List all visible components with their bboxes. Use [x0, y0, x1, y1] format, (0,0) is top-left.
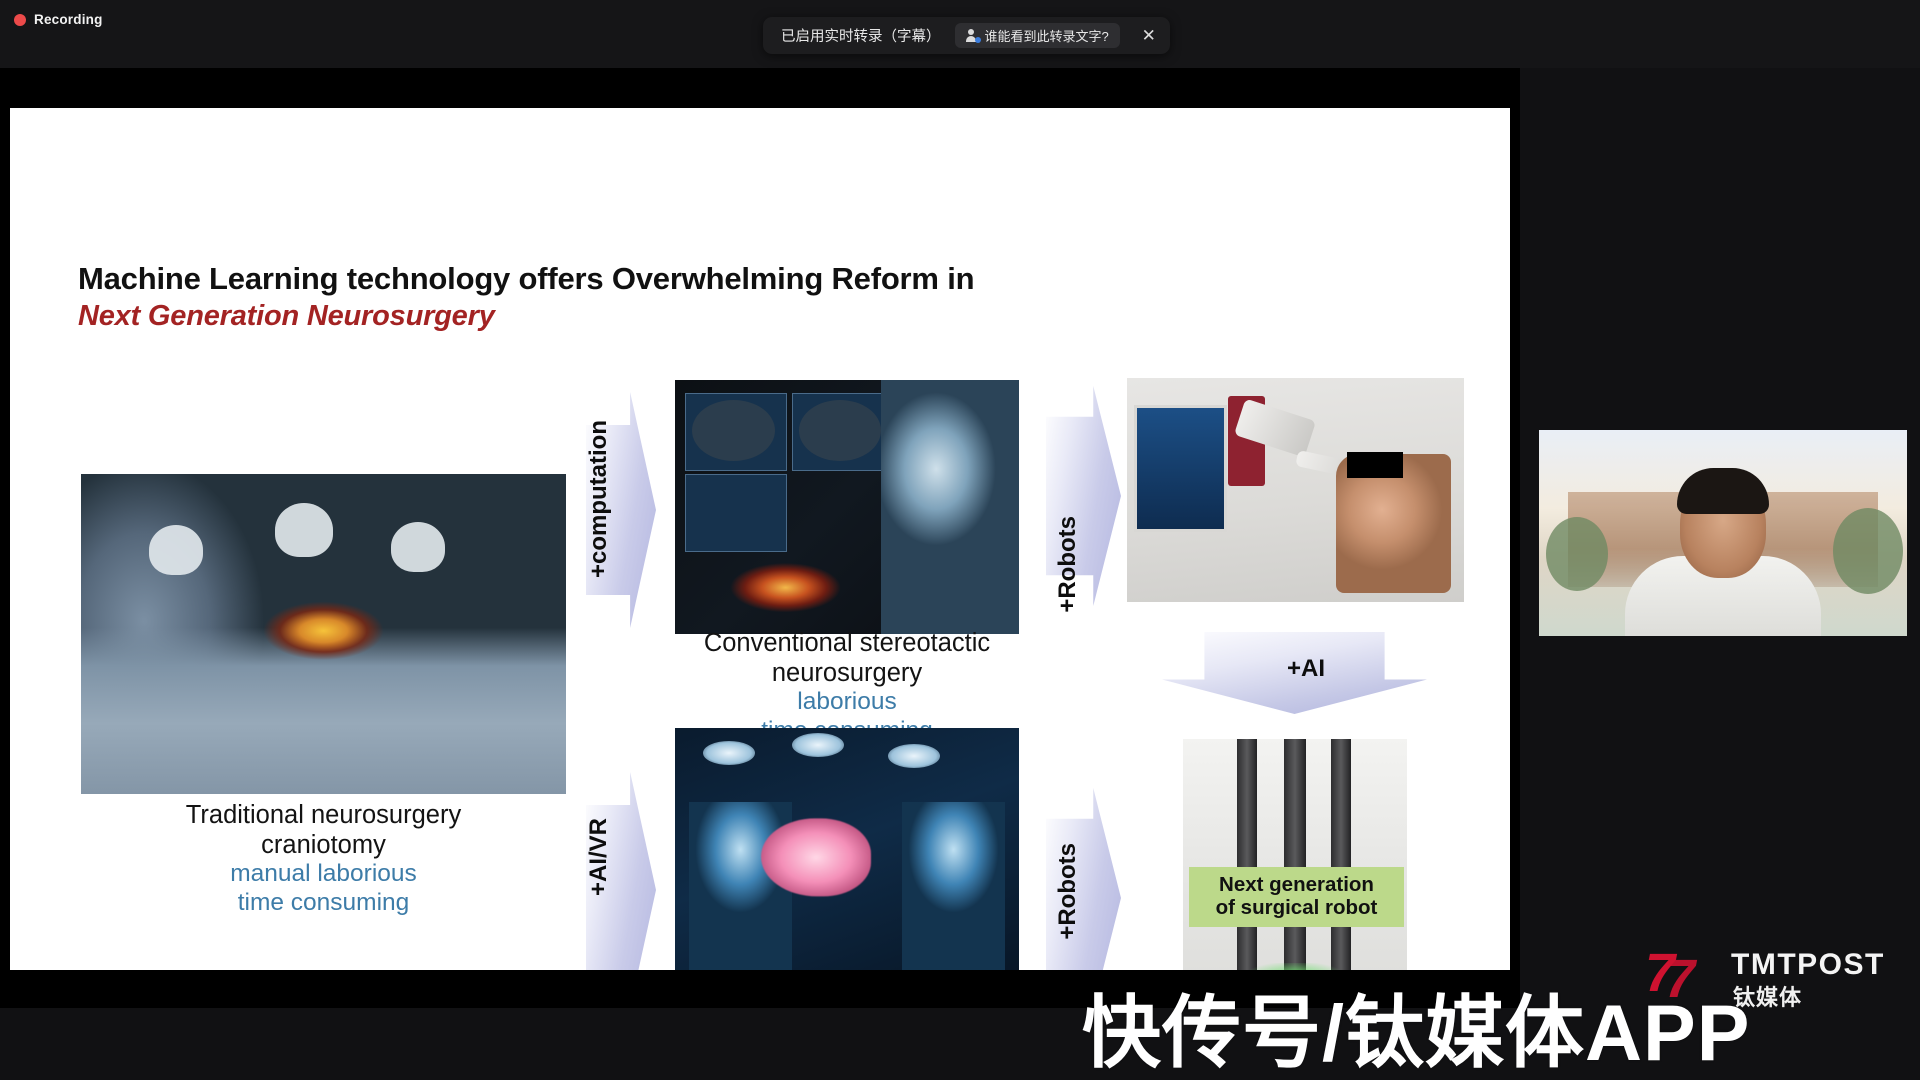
recording-label: Recording [34, 12, 103, 27]
caption-line: craniotomy [81, 830, 566, 860]
traditional-surgery-photo [81, 474, 566, 794]
person-icon [966, 29, 979, 42]
participant-video-tile[interactable] [1539, 430, 1907, 636]
rosa-robot-photo [1127, 378, 1464, 602]
greenbox-line: Next generation [1219, 874, 1374, 897]
caption-line: laborious [656, 688, 1038, 717]
watermark-text: 快传号/钛媒体APP [1082, 968, 1750, 1080]
caption-message: 已启用实时转录（字幕） [781, 25, 941, 46]
who-can-see-transcript-button[interactable]: 谁能看到此转录文字? [955, 23, 1120, 48]
virtual-background-tree [1546, 517, 1608, 591]
slide-title: Machine Learning technology offers Overw… [78, 261, 974, 297]
caption-line: Conventional stereotactic [656, 628, 1038, 658]
close-icon[interactable]: ✕ [1134, 21, 1164, 51]
logo-brand-text: TMTPOST [1731, 948, 1885, 982]
ar-vr-surgery-photo [675, 728, 1019, 970]
arrow-label-robots-top: +Robots [1054, 516, 1082, 613]
caption-line: manual laborious [81, 860, 566, 889]
participant-figure [1625, 482, 1821, 636]
recording-dot-icon [14, 14, 26, 26]
arrow-label-computation: +computation [585, 420, 613, 578]
caption-line: Traditional neurosurgery [81, 800, 566, 830]
arrow-label-robots-bottom: +Robots [1054, 843, 1082, 940]
arrow-label-aivr: +AI/VR [585, 818, 613, 896]
caption-line: neurosurgery [656, 658, 1038, 688]
recording-indicator: Recording [14, 12, 103, 27]
meeting-screen: Recording 已启用实时转录（字幕） 谁能看到此转录文字? ✕ Machi… [0, 0, 1920, 1080]
next-generation-robot-photo [1183, 739, 1407, 970]
caption-line: time consuming [81, 889, 566, 918]
next-generation-label-box: Next generation of surgical robot [1189, 867, 1404, 927]
top-bar: Recording 已启用实时转录（字幕） 谁能看到此转录文字? ✕ [0, 0, 1920, 68]
who-can-see-transcript-label: 谁能看到此转录文字? [985, 26, 1109, 45]
stereotactic-surgery-photo [675, 380, 1019, 634]
greenbox-line: of surgical robot [1216, 897, 1378, 920]
traditional-caption: Traditional neurosurgery craniotomy manu… [81, 800, 566, 918]
caption-notification: 已启用实时转录（字幕） 谁能看到此转录文字? ✕ [763, 17, 1170, 54]
presentation-slide: Machine Learning technology offers Overw… [10, 108, 1510, 970]
slide-subtitle: Next Generation Neurosurgery [78, 300, 495, 333]
arrow-label-ai: +AI [1287, 655, 1325, 683]
